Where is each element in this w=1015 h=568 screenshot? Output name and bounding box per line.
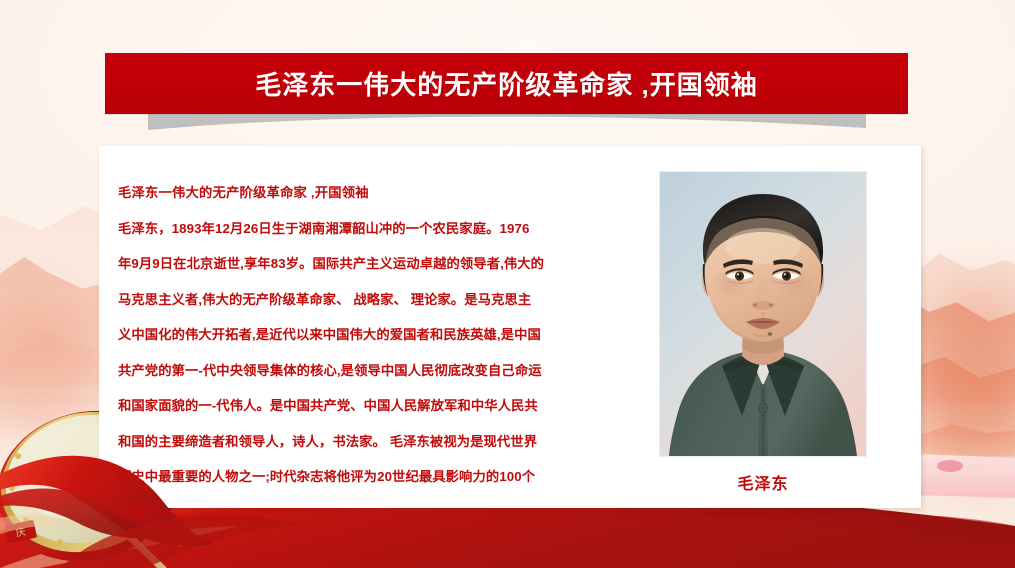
biography-line: 毛泽东一伟大的无产阶级革命家 ,开国领袖: [118, 175, 608, 211]
biography-line: 年9月9日在北京逝世,享年83岁。国际共产主义运动卓越的领导者,伟大的: [118, 246, 608, 282]
biography-text: 毛泽东一伟大的无产阶级革命家 ,开国领袖 毛泽东，1893年12月26日生于湖南…: [118, 175, 608, 530]
biography-line: 义中国化的伟大开拓者,是近代以来中国伟大的爱国者和民族英雄,是中国: [118, 317, 608, 353]
biography-line: 历史中最重要的人物之一;时代杂志将他评为20世纪最具影响力的100个: [118, 459, 608, 495]
page-title: 毛泽东一伟大的无产阶级革命家 ,开国领袖: [255, 65, 757, 102]
biography-line: 人物之一。: [118, 495, 608, 531]
biography-line: 和国的主要缔造者和领导人，诗人，书法家。 毛泽东被视为是现代世界: [118, 424, 608, 460]
title-shadow-ribbon: [148, 114, 866, 134]
title-banner: 毛泽东一伟大的无产阶级革命家 ,开国领袖: [105, 53, 908, 114]
warm-glow-right-upper: [919, 286, 1015, 406]
biography-line: 毛泽东，1893年12月26日生于湖南湘潭韶山冲的一个农民家庭。1976: [118, 211, 608, 247]
slide-root: 毛泽东一伟大的无产阶级革命家 ,开国领袖 毛泽东一伟大的无产阶级革命家 ,开国领…: [0, 0, 1015, 568]
portrait-image: [660, 172, 866, 456]
biography-line: 和国家面貌的一-代伟人。是中国共产党、中国人民解放军和中华人民共: [118, 388, 608, 424]
mao-portrait-icon: [660, 172, 866, 456]
biography-line: 共产党的第一-代中央领导集体的核心,是领导中国人民彻底改变自己命运: [118, 353, 608, 389]
biography-line: 马克思主义者,伟大的无产阶级革命家、 战略家、 理论家。是马克思主: [118, 282, 608, 318]
portrait-caption: 毛泽东: [660, 470, 866, 494]
